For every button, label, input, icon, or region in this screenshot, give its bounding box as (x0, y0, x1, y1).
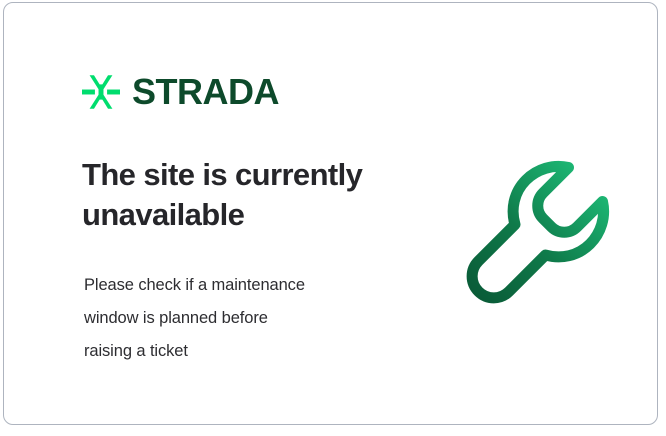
strada-asterisk-icon (82, 73, 120, 111)
brand-wordmark: STRADA (132, 74, 279, 110)
description-line-3: raising a ticket (84, 335, 404, 368)
headline-line-1: The site is currently (82, 157, 362, 192)
wrench-icon (456, 155, 622, 321)
brand-lockup: STRADA (82, 73, 279, 111)
description-line-1: Please check if a maintenance (84, 269, 404, 302)
maintenance-card: STRADA The site is currently unavailable… (3, 2, 658, 425)
page-title: The site is currently unavailable (82, 155, 412, 234)
maintenance-page: STRADA The site is currently unavailable… (0, 0, 666, 436)
headline-line-2: unavailable (82, 197, 244, 232)
description-line-2: window is planned before (84, 302, 404, 335)
page-description: Please check if a maintenance window is … (84, 269, 404, 368)
